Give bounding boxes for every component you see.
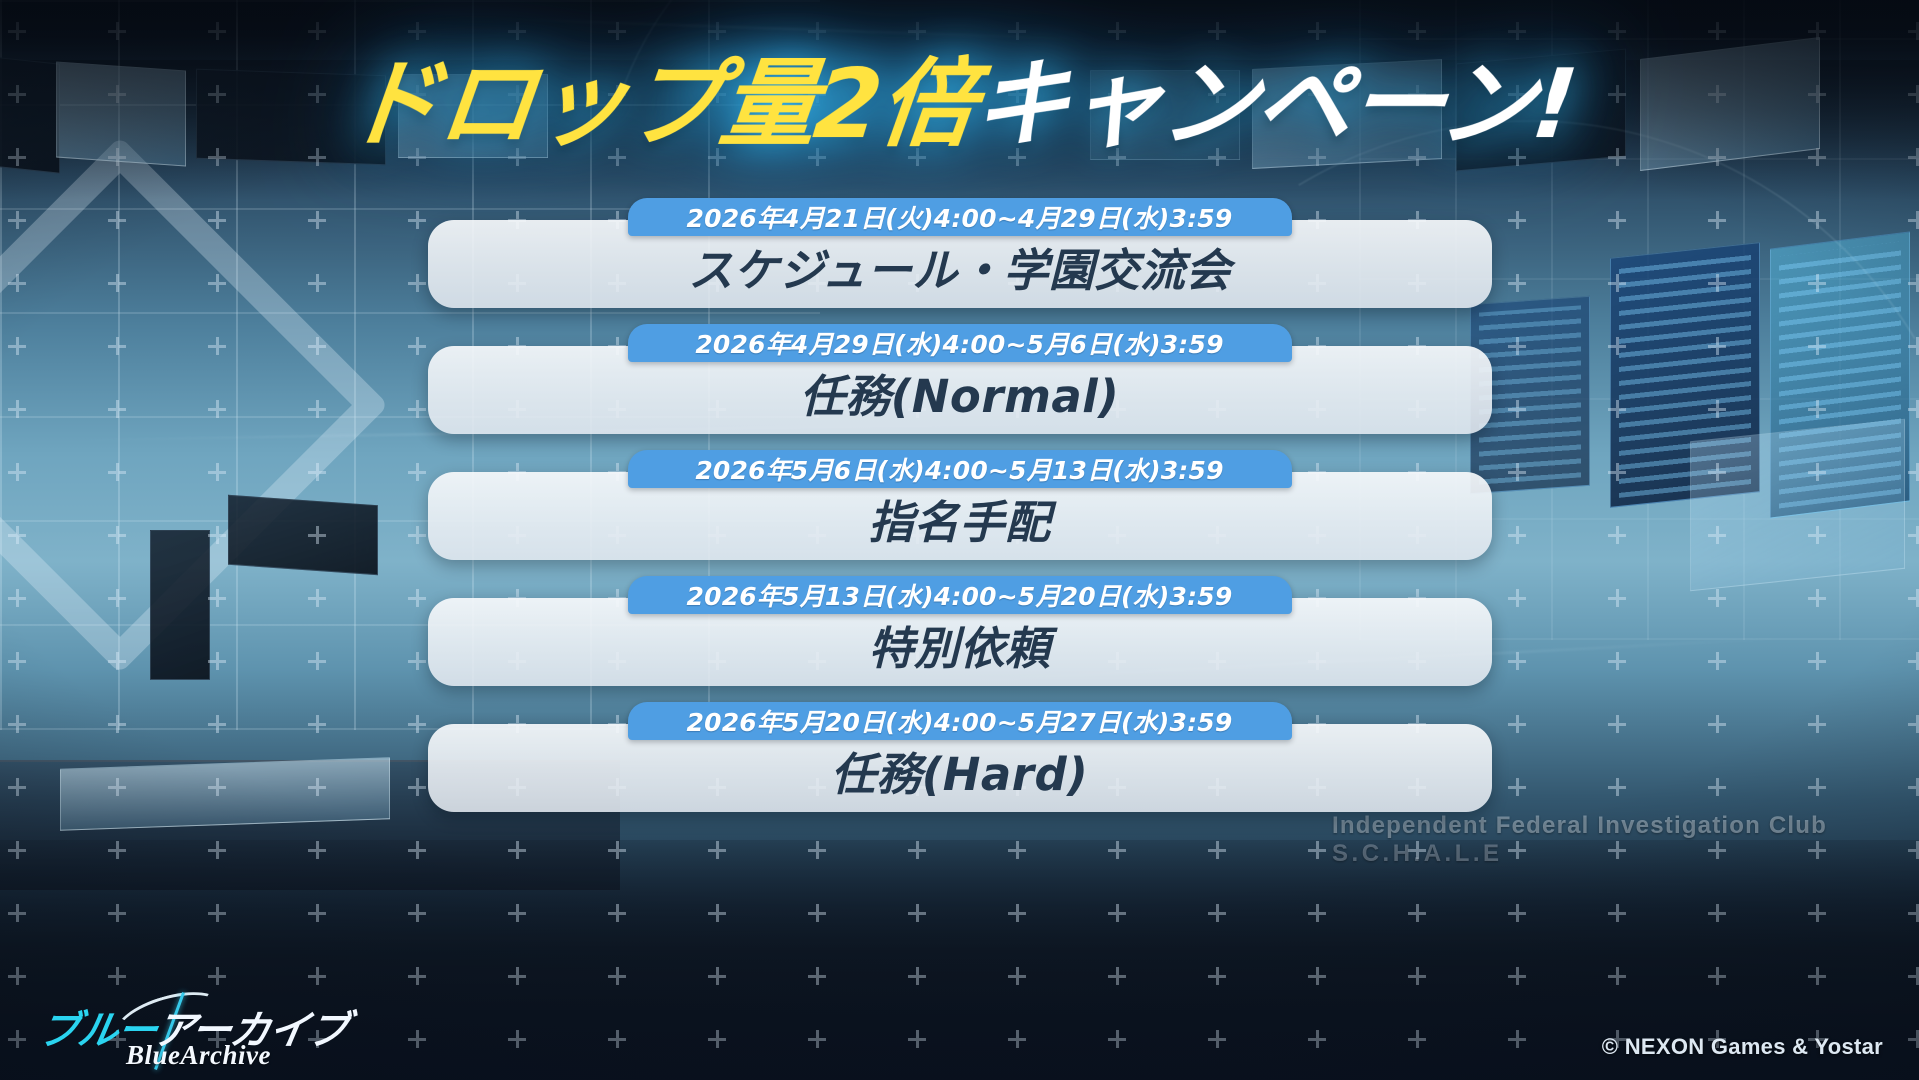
schedule-card-date: 2026年5月6日(水)4:00~5月13日(水)3:59 (695, 451, 1223, 487)
schedule-card-label: 任務(Hard) (831, 738, 1089, 803)
schedule-card-label: 特別依頼 (868, 612, 1050, 677)
schedule-card-date: 2026年4月21日(火)4:00~4月29日(水)3:59 (687, 199, 1233, 235)
schedule-card-list: スケジュール・学園交流会2026年4月21日(火)4:00~4月29日(水)3:… (0, 198, 1919, 812)
schedule-card-label: スケジュール・学園交流会 (688, 234, 1231, 299)
title-highlight: ドロップ量2倍 (339, 48, 980, 160)
banner-title: ドロップ量2倍キャンペーン! (0, 56, 1919, 152)
schedule-card[interactable]: 任務(Normal)2026年4月29日(水)4:00~5月6日(水)3:59 (428, 324, 1492, 434)
schedule-card[interactable]: 指名手配2026年5月6日(水)4:00~5月13日(水)3:59 (428, 450, 1492, 560)
schedule-card-date: 2026年4月29日(水)4:00~5月6日(水)3:59 (695, 325, 1223, 361)
schedule-card-datebar: 2026年4月29日(水)4:00~5月6日(水)3:59 (628, 324, 1292, 362)
schedule-card-datebar: 2026年5月13日(水)4:00~5月20日(水)3:59 (628, 576, 1292, 614)
title-rest: キャンペーン! (968, 48, 1581, 160)
logo-english: BlueArchive (126, 1040, 271, 1071)
schedule-card[interactable]: スケジュール・学園交流会2026年4月21日(火)4:00~4月29日(水)3:… (428, 198, 1492, 308)
schedule-card-datebar: 2026年5月6日(水)4:00~5月13日(水)3:59 (628, 450, 1292, 488)
blue-archive-logo: ブルーアーカイブ BlueArchive (18, 994, 288, 1072)
schedule-card-date: 2026年5月13日(水)4:00~5月20日(水)3:59 (687, 577, 1233, 613)
schedule-card-datebar: 2026年5月20日(水)4:00~5月27日(水)3:59 (628, 702, 1292, 740)
schedule-card[interactable]: 特別依頼2026年5月13日(水)4:00~5月20日(水)3:59 (428, 576, 1492, 686)
schedule-card-date: 2026年5月20日(水)4:00~5月27日(水)3:59 (687, 703, 1233, 739)
schedule-card-datebar: 2026年4月21日(火)4:00~4月29日(水)3:59 (628, 198, 1292, 236)
screenshot-stage: Independent Federal Investigation Club S… (0, 0, 1919, 1080)
schedule-card[interactable]: 任務(Hard)2026年5月20日(水)4:00~5月27日(水)3:59 (428, 702, 1492, 812)
schedule-card-label: 指名手配 (868, 486, 1050, 551)
schedule-card-label: 任務(Normal) (800, 360, 1120, 425)
copyright-notice: © NEXON Games & Yostar (1602, 1034, 1883, 1060)
